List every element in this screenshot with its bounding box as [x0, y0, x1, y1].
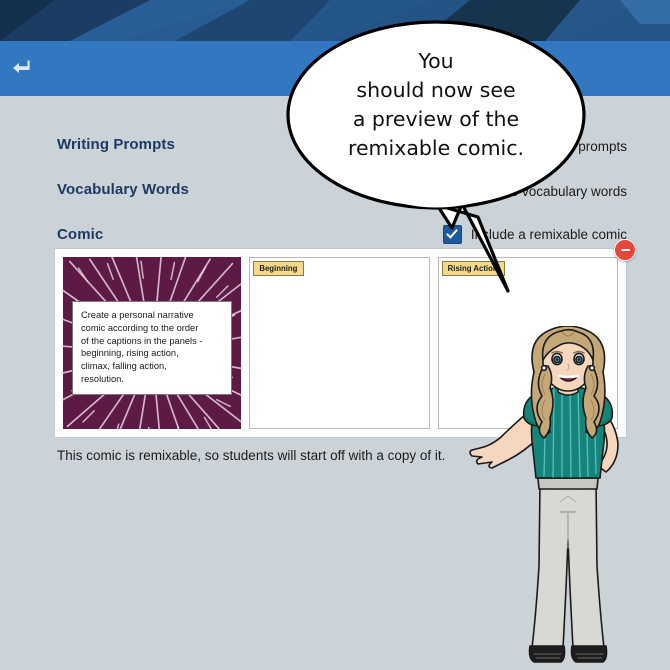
comic-panel-label-rising-action: Rising Action: [442, 261, 505, 276]
option-label-include-writing-prompts: Include writing prompts: [488, 139, 627, 154]
app-root: Writing Prompts Vocabulary Words Comic I…: [0, 0, 670, 670]
back-arrow-icon: [9, 59, 31, 77]
settings-content: Writing Prompts Vocabulary Words Comic I…: [0, 96, 670, 670]
top-toolbar: [0, 41, 670, 96]
comic-panel-rising-action[interactable]: Rising Action: [438, 257, 618, 429]
checkbox-include-remixable-comic[interactable]: [443, 225, 462, 244]
option-include-writing-prompts[interactable]: Include writing prompts: [460, 137, 627, 156]
option-include-remixable-comic[interactable]: Include a remixable comic: [443, 225, 627, 244]
option-label-include-remixable-comic: Include a remixable comic: [471, 227, 627, 242]
minus-icon: [621, 249, 630, 251]
checkbox-include-vocabulary-words[interactable]: [447, 182, 466, 201]
remixable-note: This comic is remixable, so students wil…: [57, 448, 445, 463]
comic-panel-art[interactable]: Create a personal narrative comic accord…: [63, 257, 241, 429]
option-include-vocabulary-words[interactable]: Include vocabulary words: [447, 182, 627, 201]
comic-panel-label-beginning: Beginning: [253, 261, 304, 276]
hero-shapes: [0, 0, 670, 41]
section-title-writing-prompts: Writing Prompts: [57, 136, 175, 153]
checkbox-include-writing-prompts[interactable]: [460, 137, 479, 156]
remove-comic-button[interactable]: [614, 239, 636, 261]
back-button[interactable]: [5, 54, 35, 82]
option-label-include-vocabulary-words: Include vocabulary words: [475, 184, 627, 199]
comic-panels: Create a personal narrative comic accord…: [63, 257, 618, 429]
section-title-vocabulary-words: Vocabulary Words: [57, 181, 189, 198]
comic-panel-beginning[interactable]: Beginning: [249, 257, 429, 429]
section-title-comic: Comic: [57, 226, 103, 243]
comic-panel-caption: Create a personal narrative comic accord…: [72, 301, 232, 395]
hero-banner: [0, 0, 670, 41]
comic-preview-card[interactable]: Create a personal narrative comic accord…: [54, 248, 627, 438]
